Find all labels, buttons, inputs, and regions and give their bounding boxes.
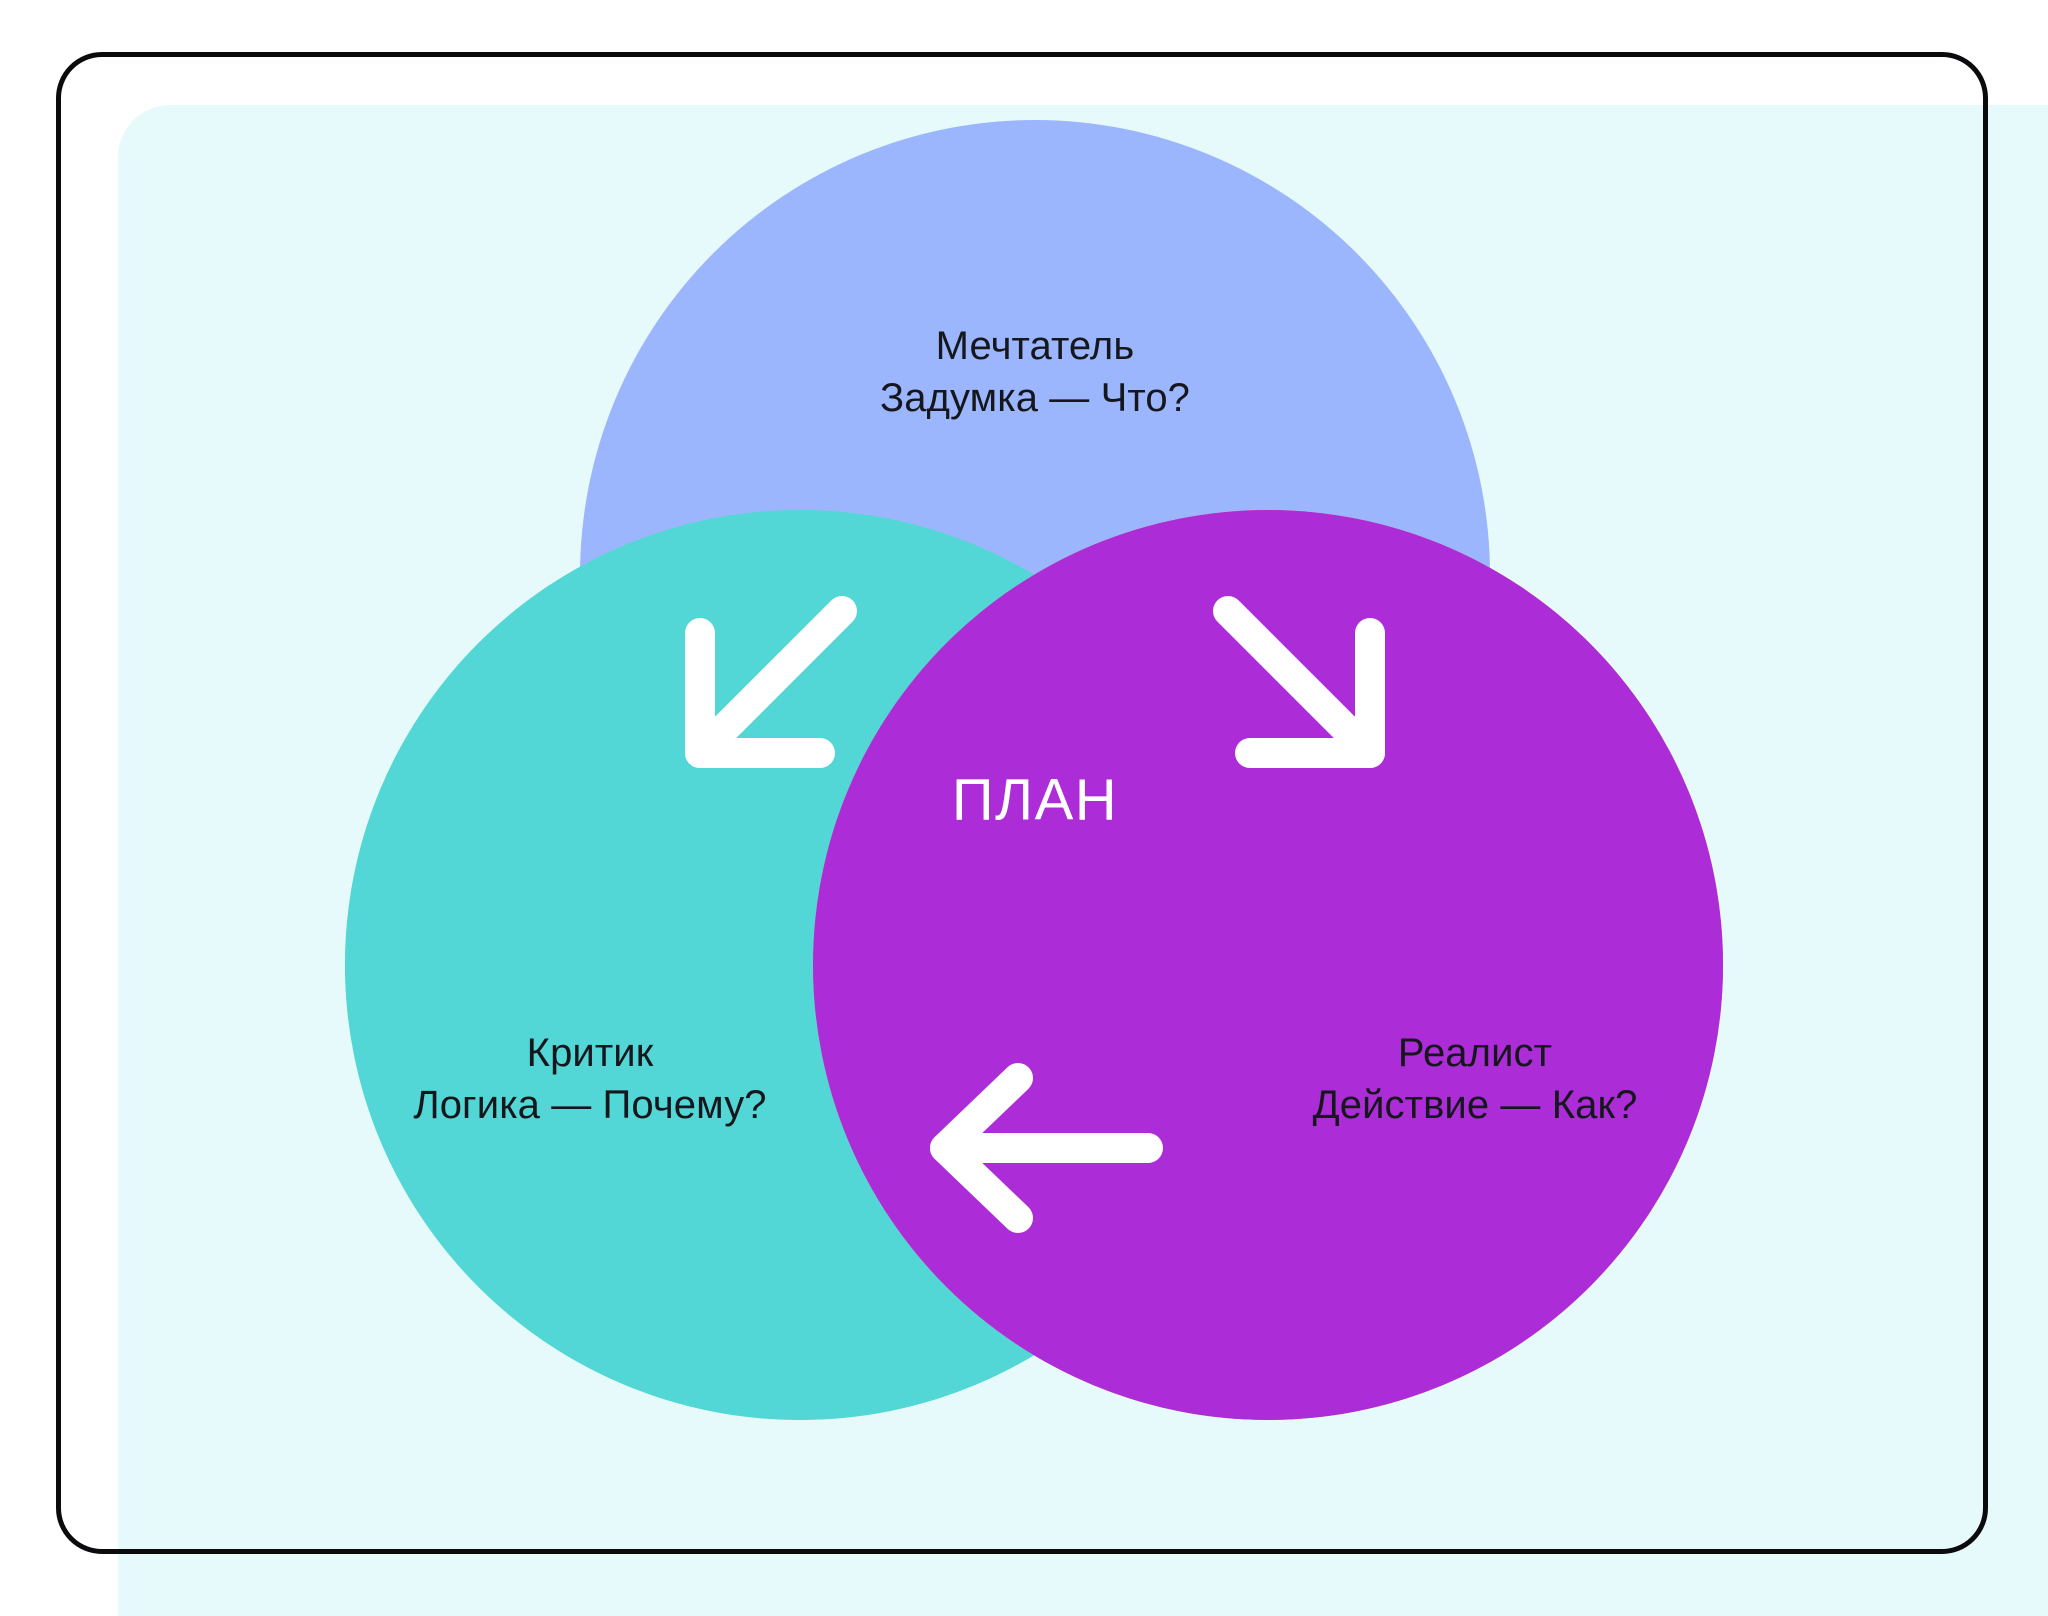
venn-diagram: Мечтатель Задумка — Что? Критик Логика —… xyxy=(0,0,2048,1616)
venn-svg xyxy=(0,0,2048,1616)
